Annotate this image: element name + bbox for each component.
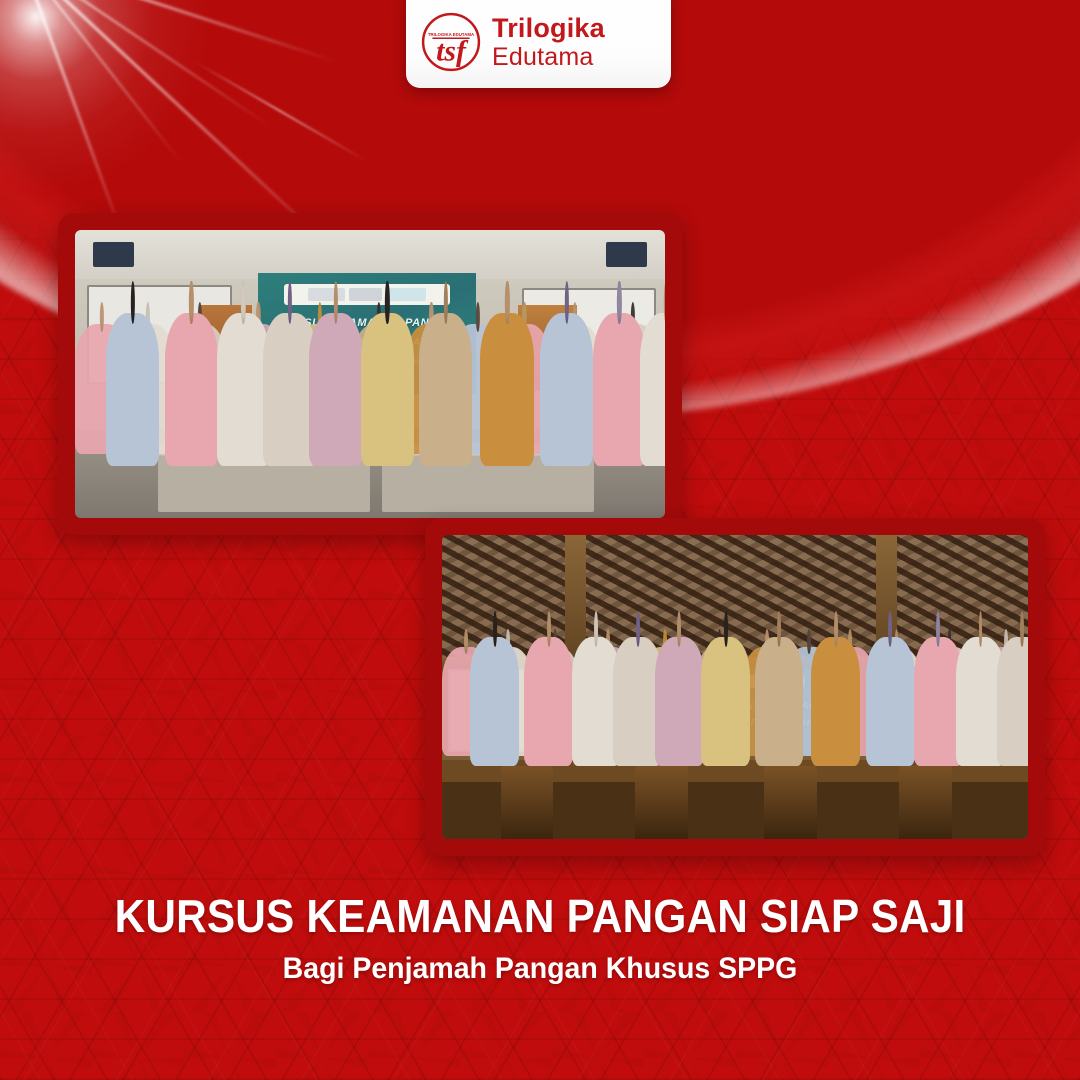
photo-classroom-scene: KURSUS KEAMANAN PANGAN SIAP SAJI BAGI PE… [75,230,665,518]
participant-head [724,611,728,647]
participant-head [476,302,480,332]
photo-joglo-scene: KURSUS KEAMANAN PANGAN SIAP SAJI BAGI PE… [442,535,1028,839]
photo-joglo: KURSUS KEAMANAN PANGAN SIAP SAJI BAGI PE… [442,535,1028,839]
poster-title-block: KURSUS KEAMANAN PANGAN SIAP SAJI Bagi Pe… [0,893,1080,986]
participant-head [777,611,781,647]
participant-head [664,281,665,323]
page-title: KURSUS KEAMANAN PANGAN SIAP SAJI [43,893,1037,940]
photo-frame-classroom: KURSUS KEAMANAN PANGAN SIAP SAJI BAGI PE… [58,213,682,535]
brand-logo-text: Trilogika Edutama [492,15,605,70]
participant [701,637,750,766]
trilogika-monogram-icon: TRILOGIKA EDUTAMA tsf [420,11,482,73]
participant [470,637,519,766]
page-subtitle: Bagi Penjamah Pangan Khusus SPPG [27,952,1053,986]
participant [165,313,219,467]
scene-chair [764,766,817,839]
participant-head [1020,611,1024,647]
scene-speaker-left [93,242,134,268]
participant [361,313,415,467]
participant [655,637,704,766]
participant [540,313,594,467]
photo-classroom: KURSUS KEAMANAN PANGAN SIAP SAJI BAGI PE… [75,230,665,518]
participant-head [807,629,811,655]
participant [524,637,573,766]
scene-chair [501,766,554,839]
participant-head [493,611,497,647]
participant-head [636,611,640,647]
participant-head [677,611,681,647]
poster-canvas: TRILOGIKA EDUTAMA tsf Trilogika Edutama [0,0,1080,1080]
brand-name-line1: Trilogika [492,15,605,42]
participant-head [888,611,892,647]
scene-speaker-right [606,242,647,268]
svg-text:tsf: tsf [436,35,469,68]
participant [997,637,1028,766]
participant-head [464,629,468,655]
participant-head [100,302,104,332]
participant-head [979,611,983,647]
participant [419,313,473,467]
scene-participants-group [442,626,1028,766]
brand-name-line2: Edutama [492,45,605,70]
photo-frame-joglo: KURSUS KEAMANAN PANGAN SIAP SAJI BAGI PE… [425,518,1045,856]
participant [755,637,804,766]
scene-participants-group [75,299,665,466]
participant [480,313,534,467]
participant-head [547,611,551,647]
participant-head [594,611,598,647]
scene-ceiling [75,230,665,279]
scene-chair [899,766,952,839]
participant [593,313,647,467]
scene-chair [635,766,688,839]
participant [866,637,915,766]
brand-logo-badge: TRILOGIKA EDUTAMA tsf Trilogika Edutama [406,0,671,88]
participant-head [936,611,940,647]
participant-head [834,611,838,647]
participant [106,313,160,467]
participant [309,313,363,467]
participant [640,313,665,467]
participant [811,637,860,766]
